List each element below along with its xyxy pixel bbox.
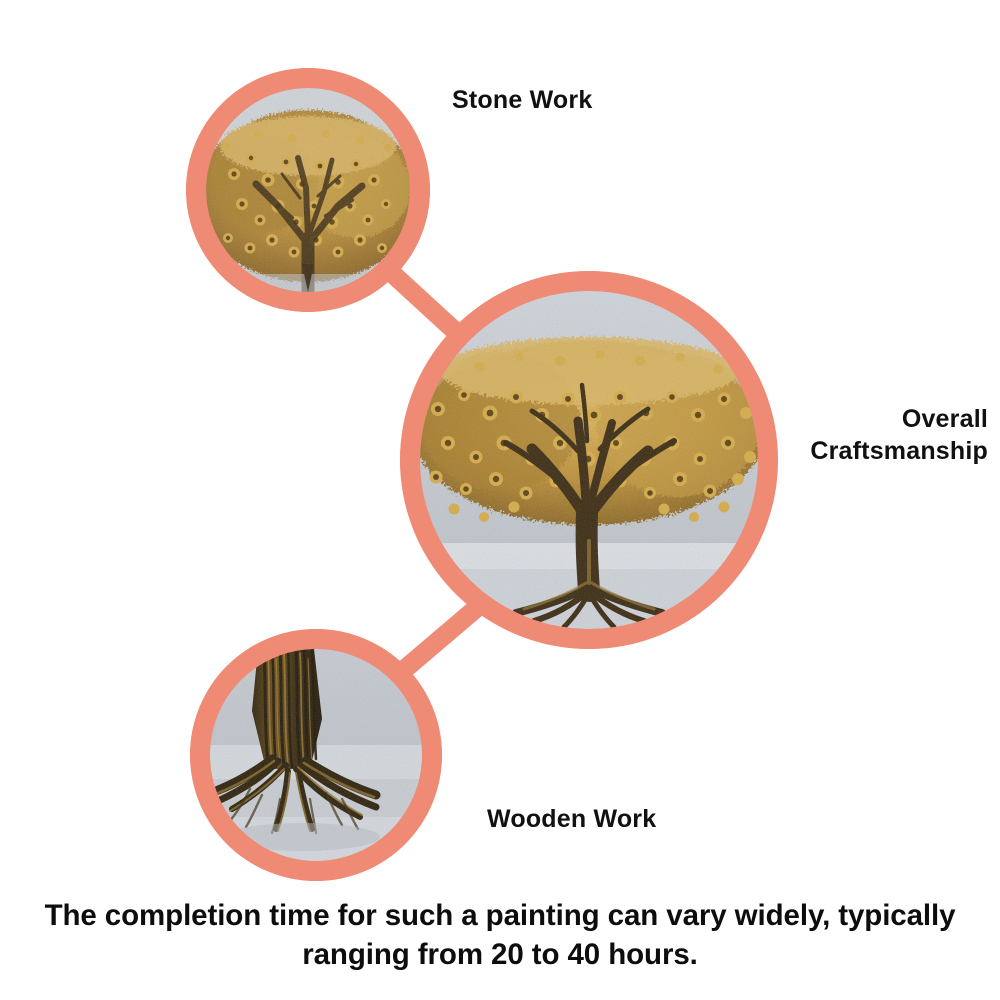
callout-circle-stone-work[interactable] — [186, 68, 430, 312]
callout-circle-overall-craftsmanship[interactable] — [400, 271, 778, 649]
label-stone-work: Stone Work — [452, 84, 592, 116]
label-overall-line-2: Craftsmanship — [810, 437, 988, 465]
diagram-canvas: Stone Work OverallCraftsmanship Wooden W… — [0, 0, 1000, 1000]
callout-circle-wooden-work[interactable] — [190, 629, 442, 881]
caption-line-2: ranging from 20 to 40 hours. — [302, 938, 698, 971]
caption-line-1: The completion time for such a painting … — [45, 899, 956, 932]
label-overall-craftsmanship: OverallCraftsmanship — [810, 403, 988, 467]
caption-text: The completion time for such a painting … — [28, 896, 972, 974]
photo-tree-canopy — [206, 88, 410, 292]
label-overall-line-1: Overall — [902, 405, 988, 433]
photo-tree-trunk-roots — [210, 649, 422, 861]
label-wooden-work: Wooden Work — [487, 803, 656, 835]
photo-full-tree — [420, 291, 758, 629]
